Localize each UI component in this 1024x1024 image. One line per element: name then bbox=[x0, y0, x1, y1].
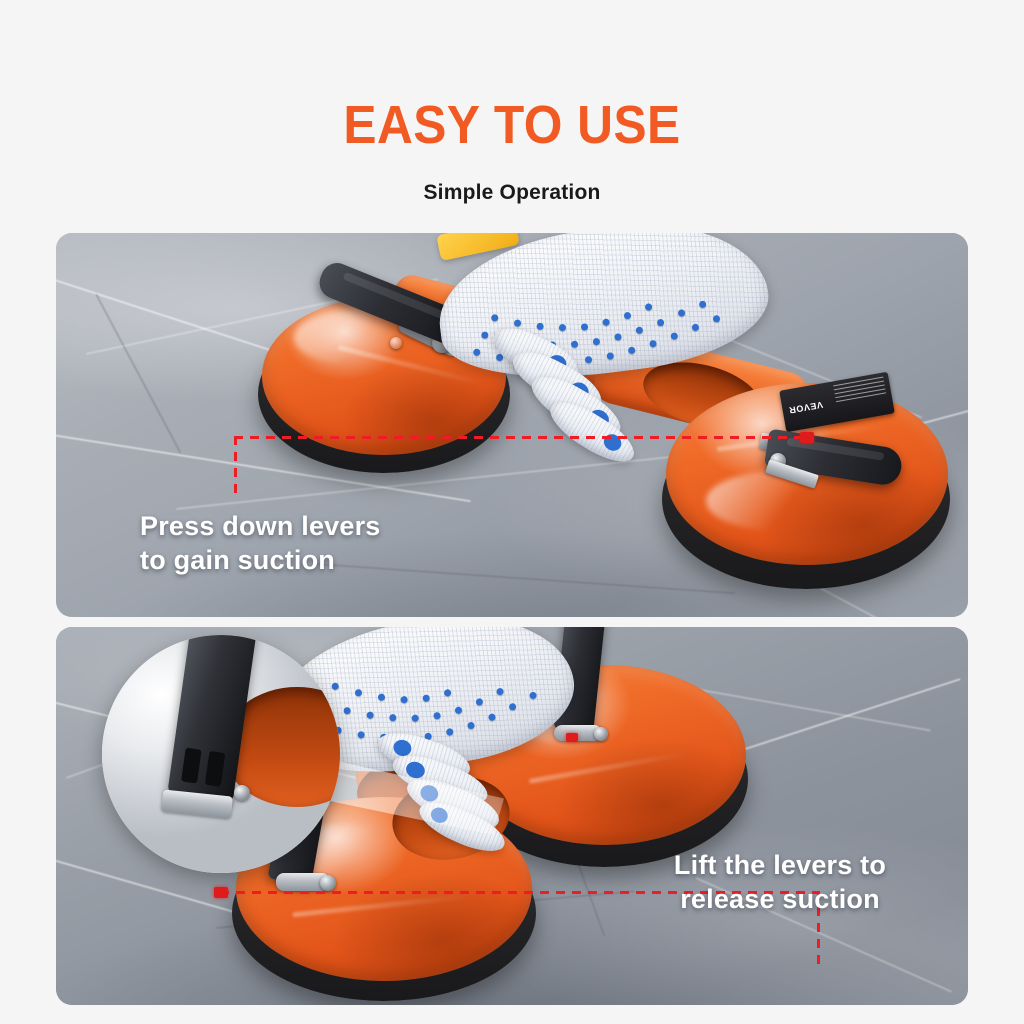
callout-endpoint bbox=[214, 887, 228, 898]
inset-lever-slot bbox=[181, 748, 202, 784]
caption-lift-levers: Lift the levers to release suction bbox=[620, 848, 940, 916]
infographic-page: EASY TO USE Simple Operation bbox=[0, 0, 1024, 1024]
lever-pivot bbox=[594, 727, 608, 741]
callout-endpoint bbox=[800, 432, 814, 443]
callout-line-horizontal bbox=[234, 436, 812, 439]
spec-lines bbox=[833, 377, 889, 419]
callout-line-vertical bbox=[234, 436, 237, 500]
inset-lever-pivot bbox=[234, 785, 250, 801]
magnifier-inset bbox=[102, 635, 340, 873]
lever-rivet bbox=[390, 337, 402, 349]
lever-pivot bbox=[320, 875, 336, 891]
inset-lever-slot bbox=[205, 751, 226, 787]
cup-gloss bbox=[706, 471, 856, 531]
page-title: EASY TO USE bbox=[41, 96, 983, 154]
caption-press-down-levers: Press down levers to gain suction bbox=[140, 509, 381, 577]
suction-indicator bbox=[566, 733, 578, 742]
page-subtitle: Simple Operation bbox=[0, 180, 1024, 206]
panel-lift-levers bbox=[56, 627, 968, 1005]
brand-text: VEVOR bbox=[788, 400, 824, 416]
suction-cup-right: VEVOR bbox=[656, 375, 956, 591]
